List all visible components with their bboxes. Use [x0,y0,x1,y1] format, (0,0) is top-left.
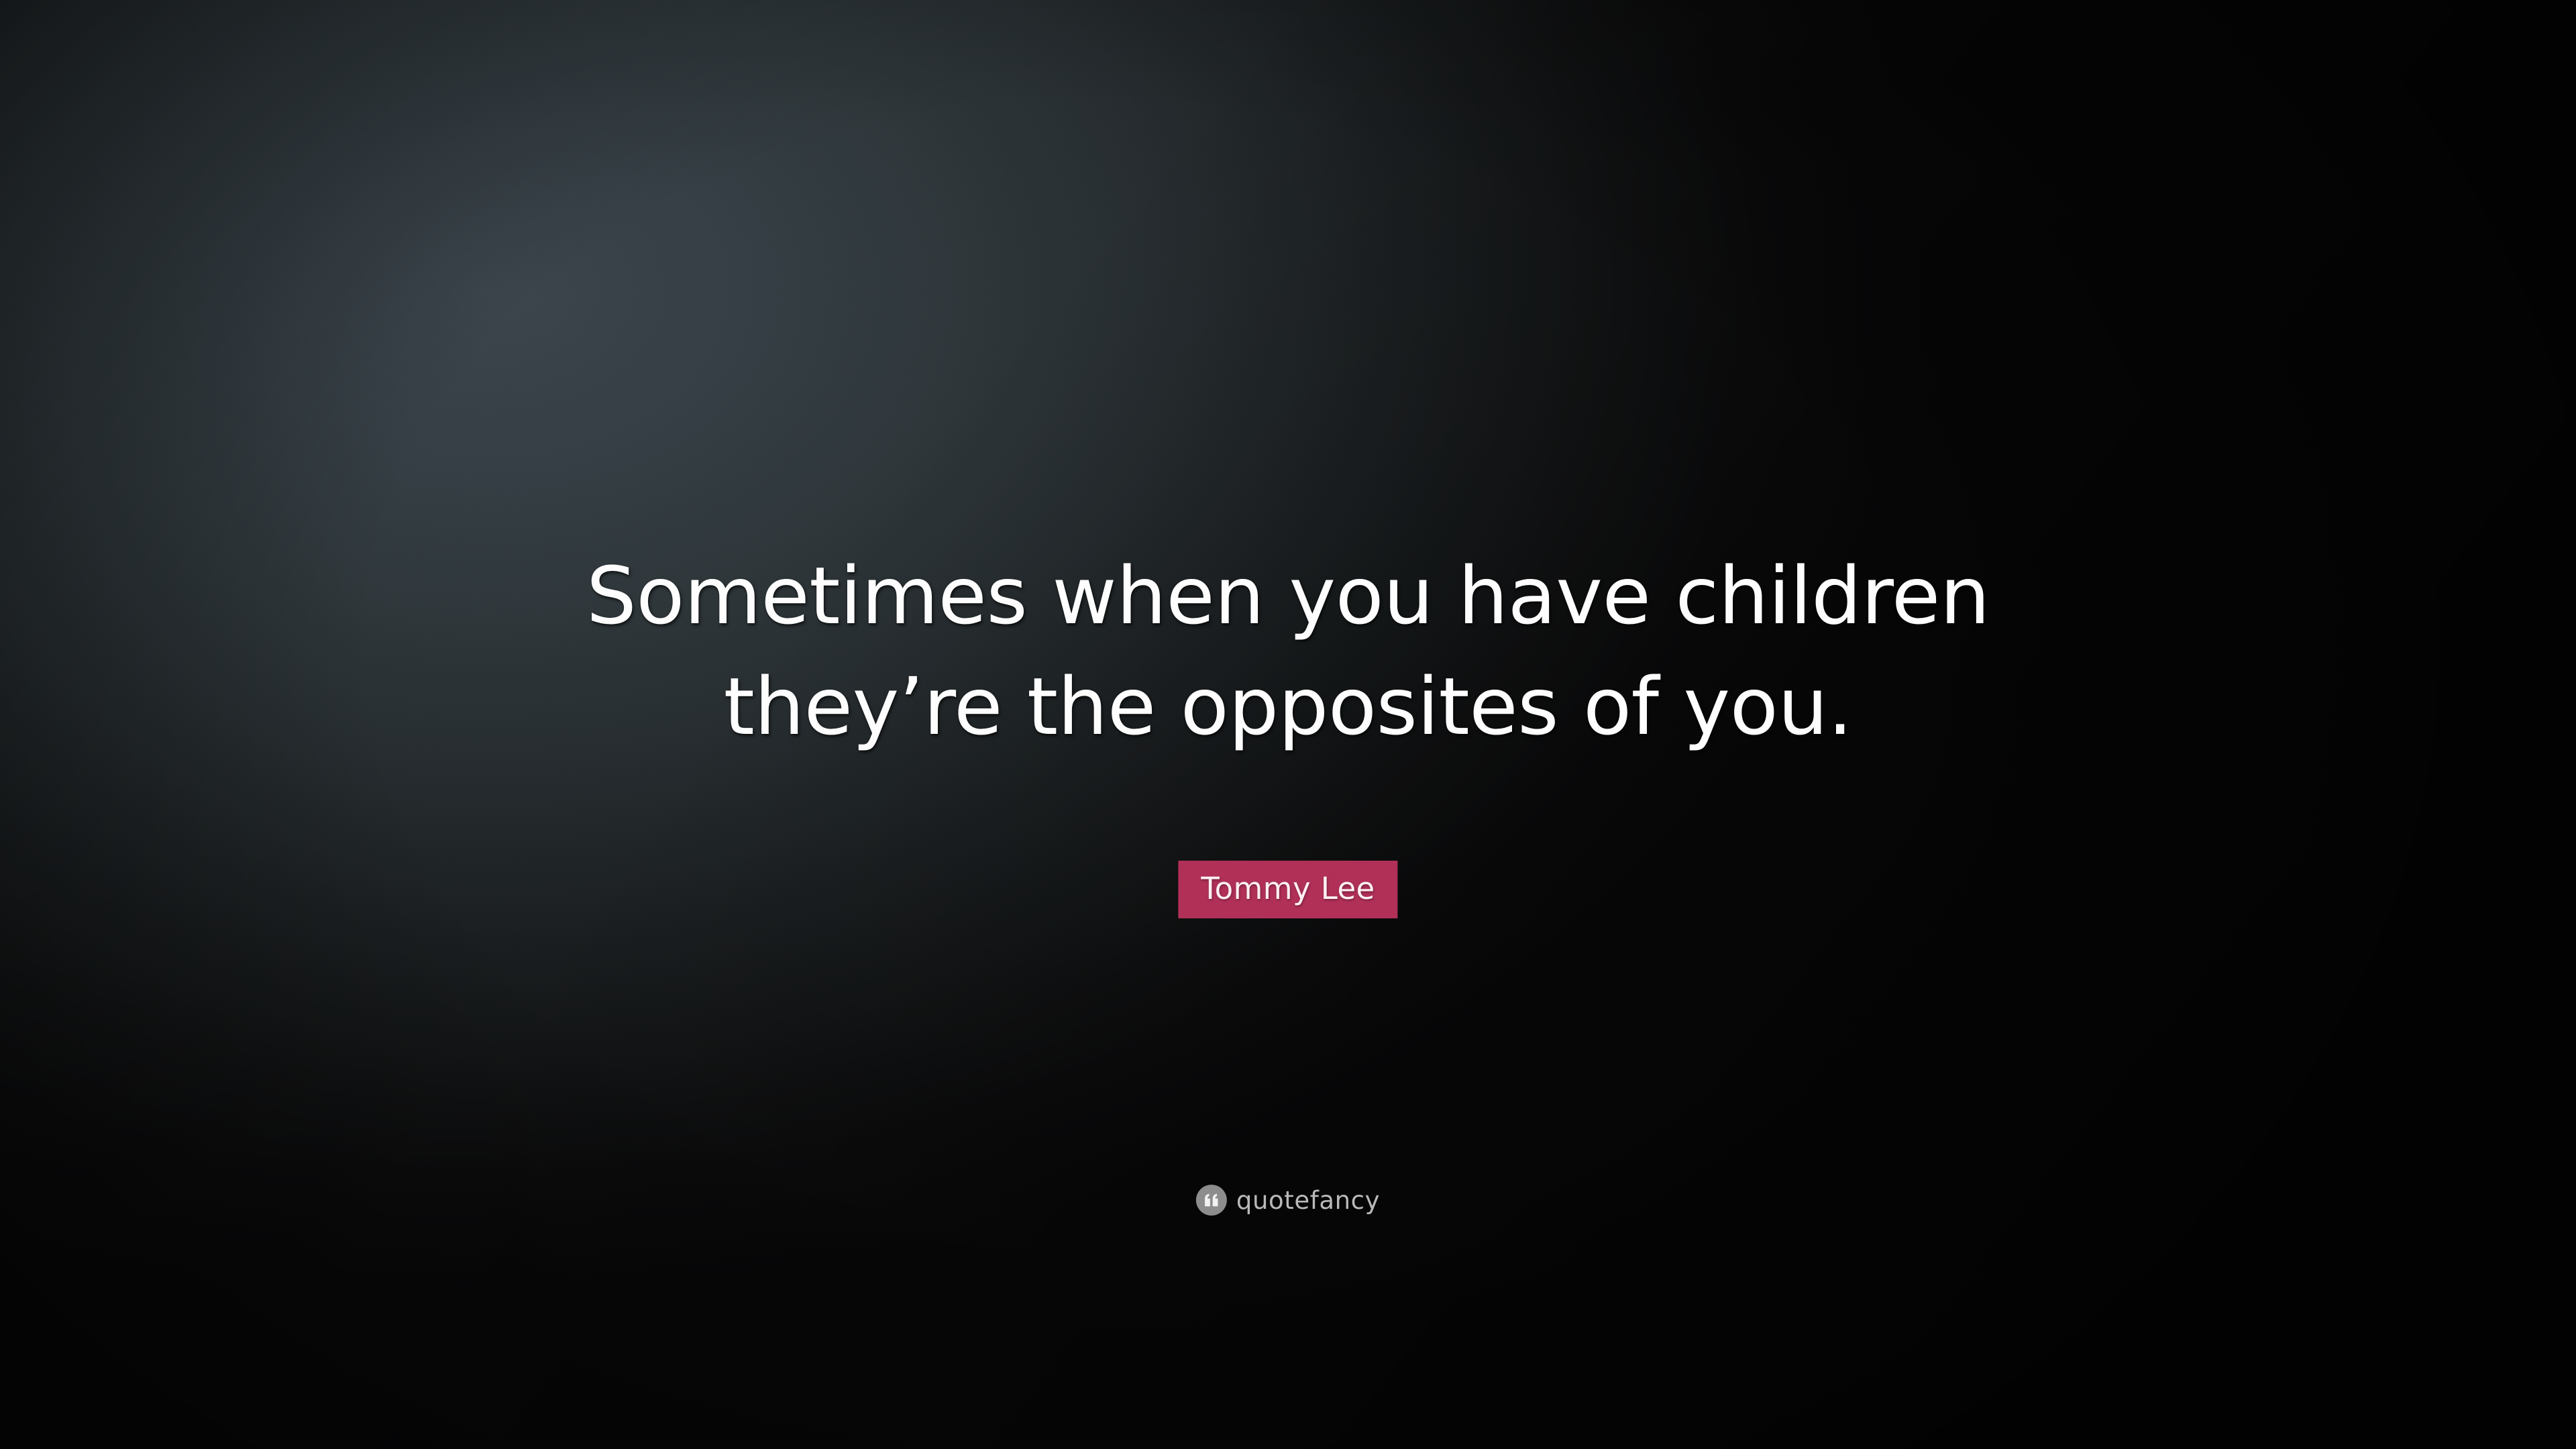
quotefancy-wordmark: quotefancy [1236,1188,1380,1213]
quotation-mark-icon [1196,1185,1227,1216]
quote-text: Sometimes when you have children they’re… [0,541,2576,762]
quote-line-1: Sometimes when you have children [201,541,2375,651]
quote-line-2: they’re the opposites of you. [201,651,2375,762]
quote-poster: Sometimes when you have children they’re… [0,0,2576,1449]
poster-content: Sometimes when you have children they’re… [0,0,2576,1449]
author-badge: Tommy Lee [1178,861,1397,918]
quotefancy-logo[interactable]: quotefancy [1196,1185,1380,1216]
